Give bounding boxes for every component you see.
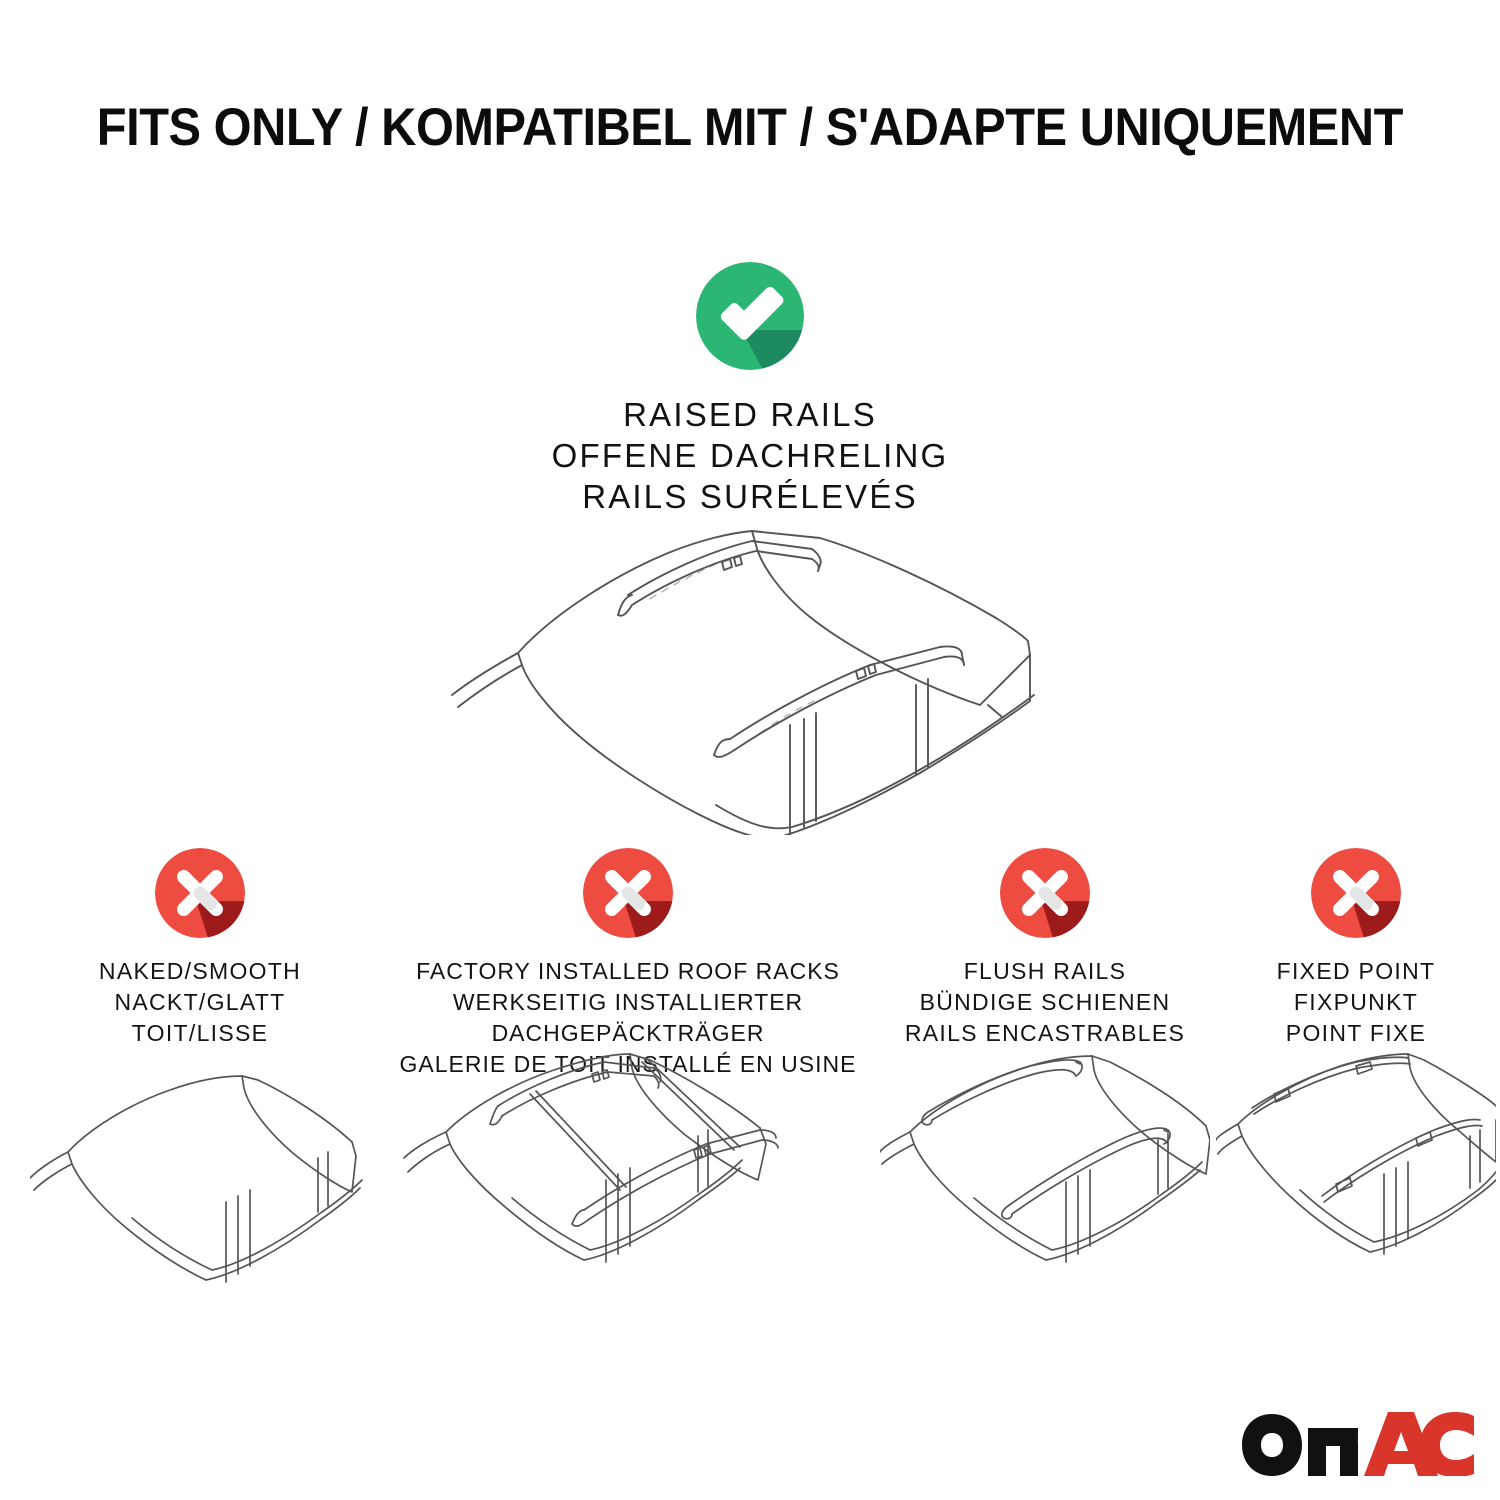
incompatible-column-flush-rails: FLUSH RAILS BÜNDIGE SCHIENEN RAILS ENCAS…: [880, 848, 1210, 1049]
compatible-label-en: RAISED RAILS: [0, 394, 1500, 435]
label-line: FACTORY INSTALLED ROOF RACKS: [378, 956, 878, 987]
green-check-icon: [696, 262, 804, 370]
compatible-label-de: OFFENE DACHRELING: [0, 435, 1500, 476]
label-line: FIXED POINT: [1216, 956, 1496, 987]
compatible-section: RAISED RAILS OFFENE DACHRELING RAILS SUR…: [0, 262, 1500, 517]
incompatible-labels-fixed-point: FIXED POINT FIXPUNKT POINT FIXE: [1216, 956, 1496, 1049]
red-x-icon: [1311, 848, 1401, 938]
incompatible-column-naked-smooth: NAKED/SMOOTH NACKT/GLATT TOIT/LISSE: [30, 848, 370, 1049]
label-line: FIXPUNKT: [1216, 987, 1496, 1018]
red-x-icon: [1000, 848, 1090, 938]
label-line: FLUSH RAILS: [880, 956, 1210, 987]
naked-smooth-roof-diagram: [30, 1060, 370, 1290]
omac-logo: [1238, 1404, 1478, 1476]
incompatible-column-factory-racks: FACTORY INSTALLED ROOF RACKS WERKSEITIG …: [378, 848, 878, 1080]
fixed-point-roof-diagram: [1216, 1044, 1496, 1290]
label-line: NAKED/SMOOTH: [30, 956, 370, 987]
label-line: BÜNDIGE SCHIENEN: [880, 987, 1210, 1018]
flush-rails-roof-diagram: [880, 1044, 1210, 1290]
page-title: FITS ONLY / KOMPATIBEL MIT / S'ADAPTE UN…: [97, 98, 1403, 158]
red-x-icon: [155, 848, 245, 938]
incompatible-section: NAKED/SMOOTH NACKT/GLATT TOIT/LISSE: [0, 848, 1500, 1448]
raised-rails-roof-diagram: [400, 505, 1100, 835]
label-line: TOIT/LISSE: [30, 1018, 370, 1049]
red-x-icon: [583, 848, 673, 938]
compatible-labels: RAISED RAILS OFFENE DACHRELING RAILS SUR…: [0, 394, 1500, 517]
factory-roof-rack-diagram: [378, 1044, 878, 1290]
incompatible-labels-flush-rails: FLUSH RAILS BÜNDIGE SCHIENEN RAILS ENCAS…: [880, 956, 1210, 1049]
incompatible-column-fixed-point: FIXED POINT FIXPUNKT POINT FIXE: [1216, 848, 1496, 1049]
page-header: FITS ONLY / KOMPATIBEL MIT / S'ADAPTE UN…: [0, 98, 1500, 158]
label-line: NACKT/GLATT: [30, 987, 370, 1018]
label-line: WERKSEITIG INSTALLIERTER: [378, 987, 878, 1018]
incompatible-labels-naked-smooth: NAKED/SMOOTH NACKT/GLATT TOIT/LISSE: [30, 956, 370, 1049]
